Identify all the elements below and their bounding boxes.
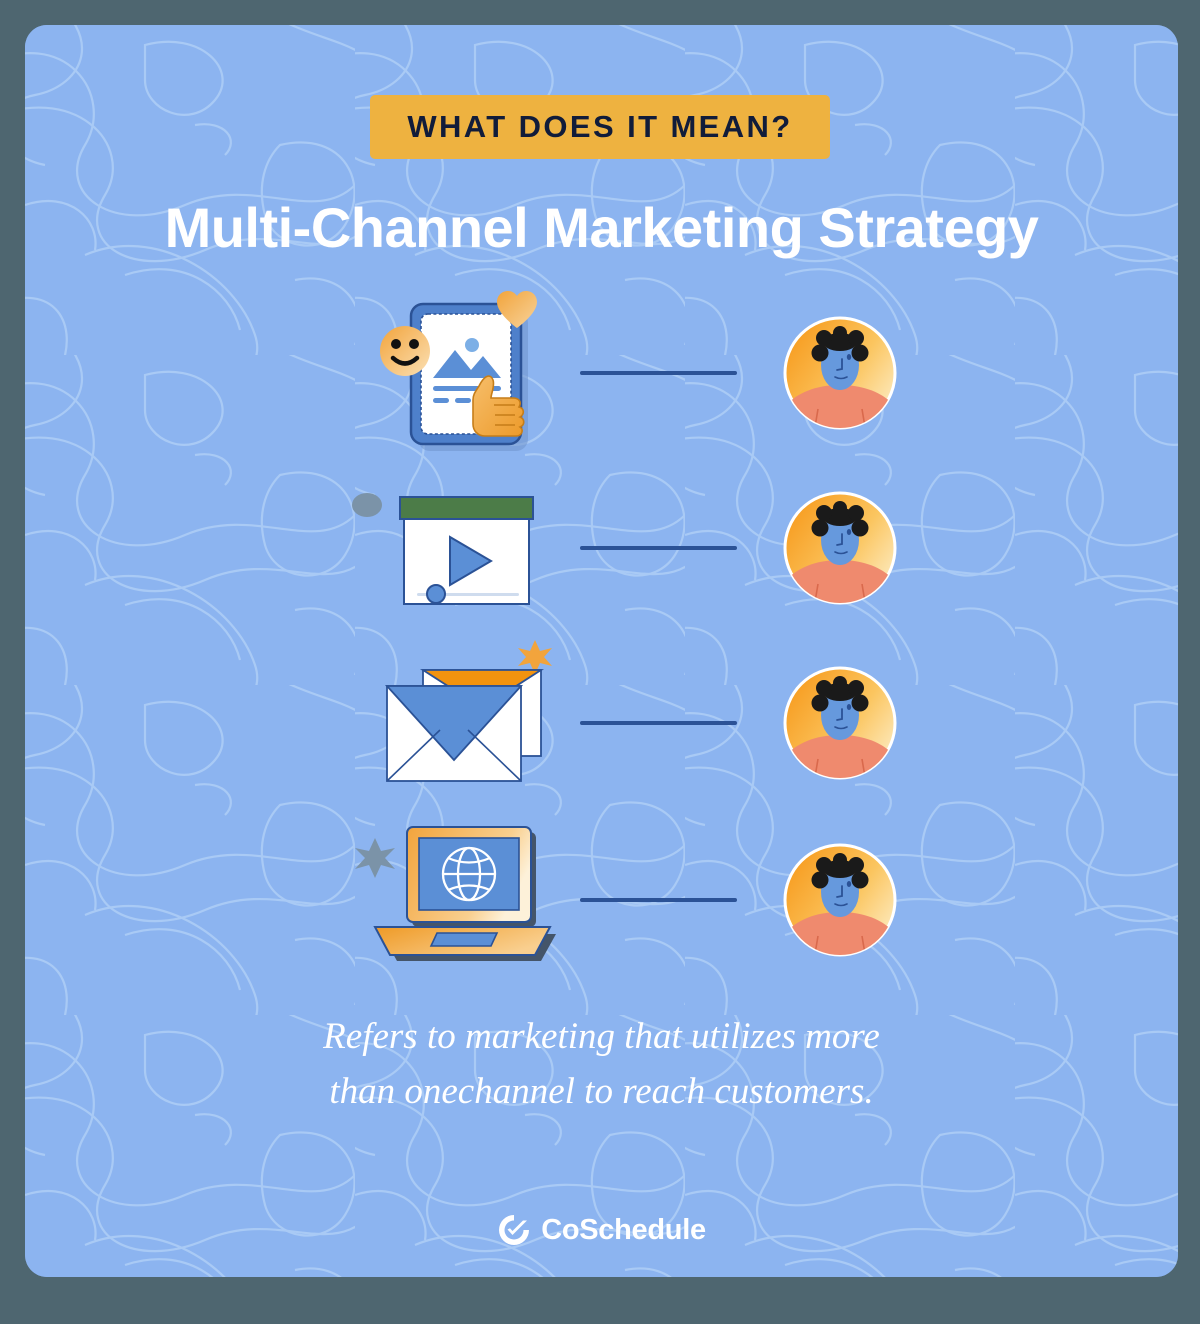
customer-avatar-website [755,815,925,985]
gray-star-decoration [355,838,395,878]
smiley-icon [380,326,430,376]
customer-avatar-social [755,288,925,458]
what-does-it-mean-badge: WHAT DOES IT MEAN? [370,95,830,159]
connector-line-website [580,898,737,902]
connector-line-video [580,546,737,550]
channel-row-video [25,463,1178,633]
connector-line-social [580,371,737,375]
customer-avatar-video [755,463,925,633]
social-media-phone-icon [345,288,570,458]
email-envelope-icon [345,638,570,808]
page-title: Multi-Channel Marketing Strategy [25,195,1178,260]
connector-line-email [580,721,737,725]
customer-avatar-email [755,638,925,808]
gray-dot-decoration [352,493,382,517]
orange-star-decoration [518,640,552,674]
infographic-card: WHAT DOES IT MEAN? Multi-Channel Marketi… [25,25,1178,1277]
caption-line-1: Refers to marketing that utilizes more [25,1010,1178,1065]
definition-caption: Refers to marketing that utilizes more t… [25,1010,1178,1120]
channel-row-email [25,638,1178,808]
caption-line-2: than onechannel to reach customers. [25,1065,1178,1120]
coschedule-check-circle-icon [497,1213,531,1247]
video-player-icon [345,463,570,633]
badge-label: WHAT DOES IT MEAN? [407,109,792,145]
coschedule-logo: CoSchedule [25,1213,1178,1247]
brand-name: CoSchedule [541,1214,706,1247]
laptop-website-icon [345,815,570,985]
channel-row-website [25,815,1178,985]
channel-row-social [25,288,1178,458]
